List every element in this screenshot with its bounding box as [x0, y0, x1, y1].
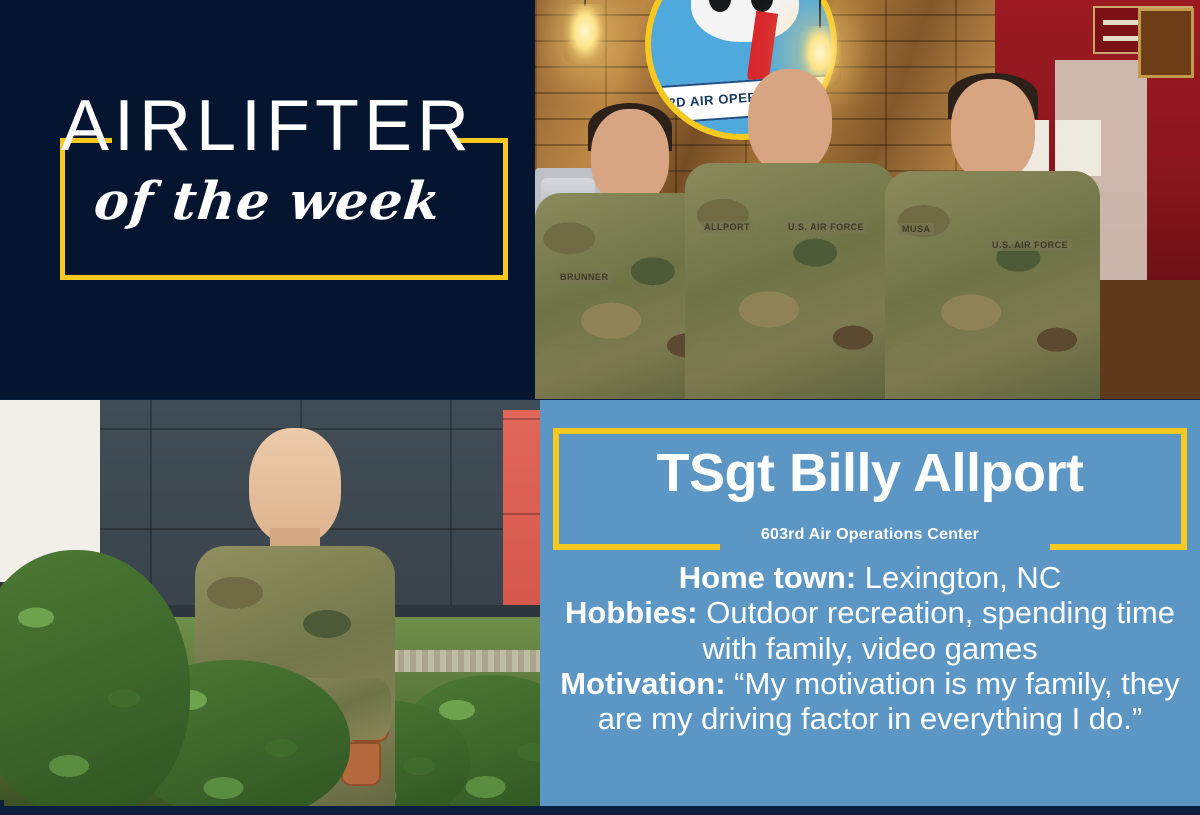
poster-main-title: AIRLIFTER: [0, 92, 535, 160]
airman-head: [951, 79, 1035, 181]
airman-center: ALLPORT U.S. AIR FORCE: [685, 69, 895, 399]
name-tape-center: ALLPORT: [701, 221, 753, 233]
motivation-label: Motivation:: [560, 666, 725, 701]
building-red-panel: [503, 410, 540, 610]
unit-line-mask: [720, 542, 1050, 552]
home-town-value: Lexington, NC: [865, 560, 1061, 595]
name-tape-left: BRUNNER: [557, 271, 612, 283]
title-panel: AIRLIFTER of the week: [0, 0, 535, 399]
service-tape-center: U.S. AIR FORCE: [785, 221, 867, 233]
emblem-mascot-icon: [691, 0, 799, 42]
subject-head: [249, 428, 341, 544]
airman-name: TSgt Billy Allport: [559, 446, 1181, 500]
airman-uniform: MUSA U.S. AIR FORCE: [885, 171, 1100, 399]
bio-line-motivation: Motivation: “My motivation is my family,…: [550, 666, 1190, 737]
hobbies-value: Outdoor recreation, spending time with f…: [702, 595, 1175, 665]
mascot-eye-left: [709, 0, 731, 12]
airman-unit: 603rd Air Operations Center: [540, 527, 1200, 543]
airman-head: [591, 109, 669, 205]
airman-uniform: ALLPORT U.S. AIR FORCE: [685, 163, 895, 399]
wall-plaque: [1138, 8, 1194, 78]
airman-bio: Home town: Lexington, NC Hobbies: Outdoo…: [550, 560, 1190, 737]
mascot-eye-right: [751, 0, 773, 12]
poster-script-subtitle: of the week: [0, 176, 535, 228]
home-town-label: Home town:: [679, 560, 856, 595]
airman-head: [748, 69, 832, 173]
gravel-border: [380, 650, 540, 672]
hobbies-label: Hobbies:: [565, 595, 698, 630]
name-tape-right: MUSA: [899, 223, 934, 235]
info-panel: TSgt Billy Allport 603rd Air Operations …: [540, 400, 1200, 806]
pendant-cord: [819, 0, 821, 28]
bottom-navy-strip: [0, 806, 1200, 815]
service-tape-right: U.S. AIR FORCE: [989, 239, 1071, 251]
bio-line-hobbies: Hobbies: Outdoor recreation, spending ti…: [550, 595, 1190, 666]
bio-line-home-town: Home town: Lexington, NC: [550, 560, 1190, 595]
solo-portrait-photo: [0, 400, 540, 806]
group-photo: 32D AIR OPERATIONS SQ BRUNNER ALLPORT U.…: [535, 0, 1200, 399]
pendant-bulb: [564, 4, 606, 64]
airlifter-of-the-week-poster: AIRLIFTER of the week 32D AIR OPERATIONS…: [0, 0, 1200, 815]
airman-right: MUSA U.S. AIR FORCE: [885, 79, 1100, 399]
